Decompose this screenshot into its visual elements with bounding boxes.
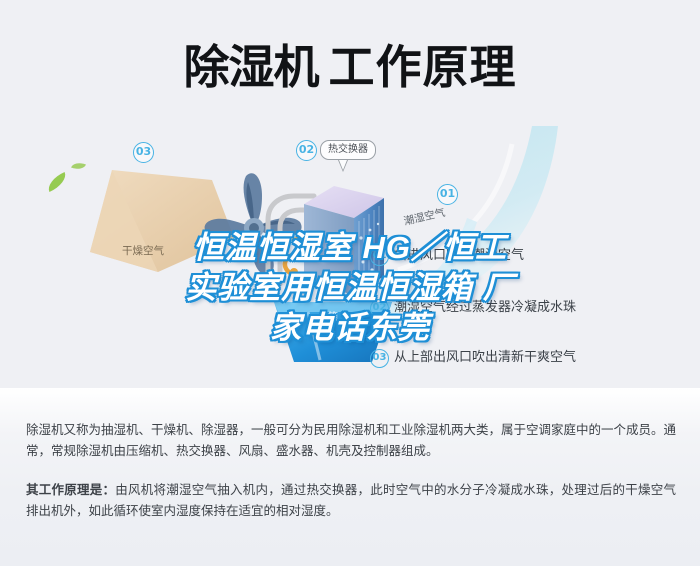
step-item-01: 01由进风口吸入潮湿空气 xyxy=(370,244,524,266)
badge-01: 01 xyxy=(437,184,458,205)
step-text-01: 由进风口吸入潮湿空气 xyxy=(394,247,524,262)
step-number-01: 01 xyxy=(370,247,389,266)
description-paragraph-2-lead: 其工作原理是： xyxy=(26,483,115,497)
step-item-03: 03从上部出风口吹出清新干爽空气 xyxy=(370,346,576,368)
step-number-02: 02 xyxy=(370,299,389,318)
step-item-02: 02潮湿空气经过蒸发器冷凝成水珠 xyxy=(370,296,576,318)
heat-exchanger-block xyxy=(300,176,410,306)
page-title-part-a: 除湿机 xyxy=(184,41,319,93)
step-text-02: 潮湿空气经过蒸发器冷凝成水珠 xyxy=(394,299,576,314)
badge-02: 02 xyxy=(296,140,317,161)
step-text-03: 从上部出风口吹出清新干爽空气 xyxy=(394,349,576,364)
badge-03: 03 xyxy=(133,142,154,163)
page-title-part-b: 工作原理 xyxy=(329,41,517,93)
step-number-03: 03 xyxy=(370,349,389,368)
callout-tail-icon xyxy=(338,160,348,172)
title-band: 除湿机工作原理 xyxy=(0,0,700,122)
description-paragraph-2-rest: 由风机将潮湿空气抽入机内，通过热交换器，此时空气中的水分子冷凝成水珠，处理过后的… xyxy=(26,483,676,518)
page-root: 除湿机工作原理 xyxy=(0,0,700,566)
description-paragraph-2: 其工作原理是：由风机将潮湿空气抽入机内，通过热交换器，此时空气中的水分子冷凝成水… xyxy=(26,480,676,522)
description-paragraph-1: 除湿机又称为抽湿机、干燥机、除湿器，一般可分为民用除湿机和工业除湿机两大类，属于… xyxy=(26,420,676,462)
heat-exchanger-callout: 热交换器 xyxy=(320,140,376,160)
description-section: 除湿机又称为抽湿机、干燥机、除湿器，一般可分为民用除湿机和工业除湿机两大类，属于… xyxy=(0,388,700,566)
leaf-icon-1 xyxy=(45,172,70,192)
heat-exchanger-callout-label: 热交换器 xyxy=(328,144,368,155)
label-water-tank: 水箱 xyxy=(318,308,338,323)
illustration-stage: 01 02 03 热交换器 潮湿空气 干燥空气 水箱 01由进风口吸入潮湿空气 … xyxy=(0,118,700,388)
page-title: 除湿机工作原理 xyxy=(0,38,700,96)
label-dry-air: 干燥空气 xyxy=(122,243,164,258)
